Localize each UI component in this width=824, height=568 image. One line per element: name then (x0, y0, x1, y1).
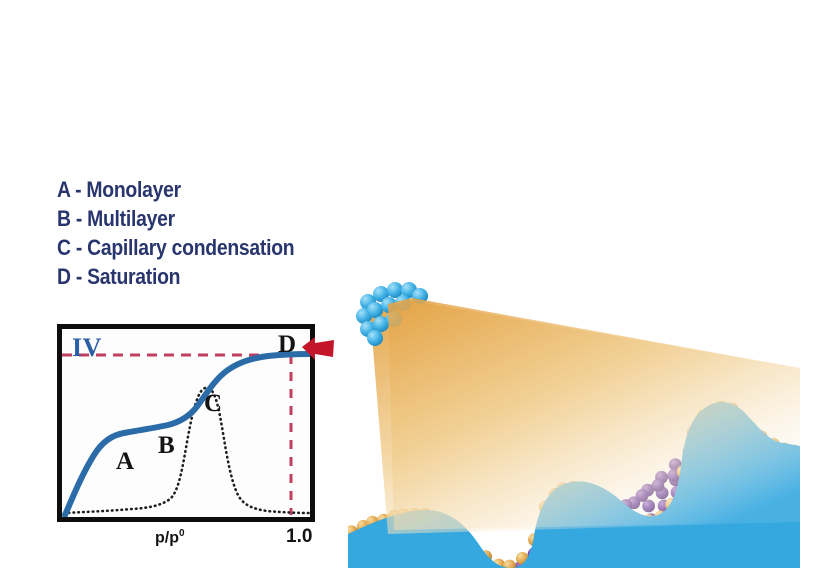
legend-item-c: C - Capillary condensation (57, 233, 295, 262)
adsorption-isotherm-curve (65, 354, 310, 515)
red-left-arrow-icon (300, 334, 336, 364)
isotherm-chart: Quantity Adsorbed IV A B C D p/p0 1.0 (33, 322, 323, 557)
x-axis-title: p/p0 (155, 528, 185, 547)
annotation-label-d: D (278, 332, 296, 357)
isotherm-type-label: IV (72, 333, 102, 363)
plot-area: IV A B C D (57, 324, 315, 522)
legend-item-a: A - Monolayer (57, 175, 295, 204)
legend-block: A - Monolayer B - Multilayer C - Capilla… (57, 175, 327, 291)
annotation-label-c: C (204, 391, 222, 416)
legend-item-d: D - Saturation (57, 262, 295, 291)
annotation-label-a: A (116, 449, 134, 474)
legend-item-b: B - Multilayer (57, 204, 295, 233)
annotation-label-b: B (158, 433, 175, 458)
x-axis-tick-1: 1.0 (286, 526, 312, 548)
adsorption-pore-filling-illustration (348, 272, 800, 568)
